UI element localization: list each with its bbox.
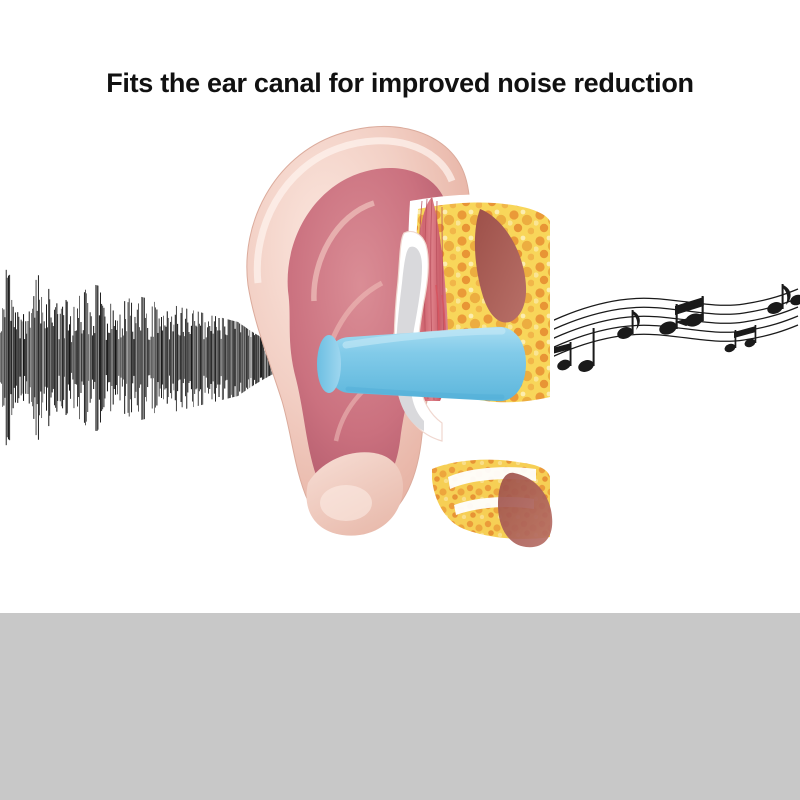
product-infographic: Fits the ear canal for improved noise re…: [0, 0, 800, 800]
footer-band: The sound-absorbing slow-release ester h…: [0, 613, 800, 800]
blue-foam-earplug-icon: [317, 327, 526, 401]
page-title: Fits the ear canal for improved noise re…: [0, 68, 800, 99]
illustration-stage: Before Noise Reduction After Noise Reduc…: [0, 105, 800, 555]
ear-anatomy-cross-section: [196, 105, 556, 553]
